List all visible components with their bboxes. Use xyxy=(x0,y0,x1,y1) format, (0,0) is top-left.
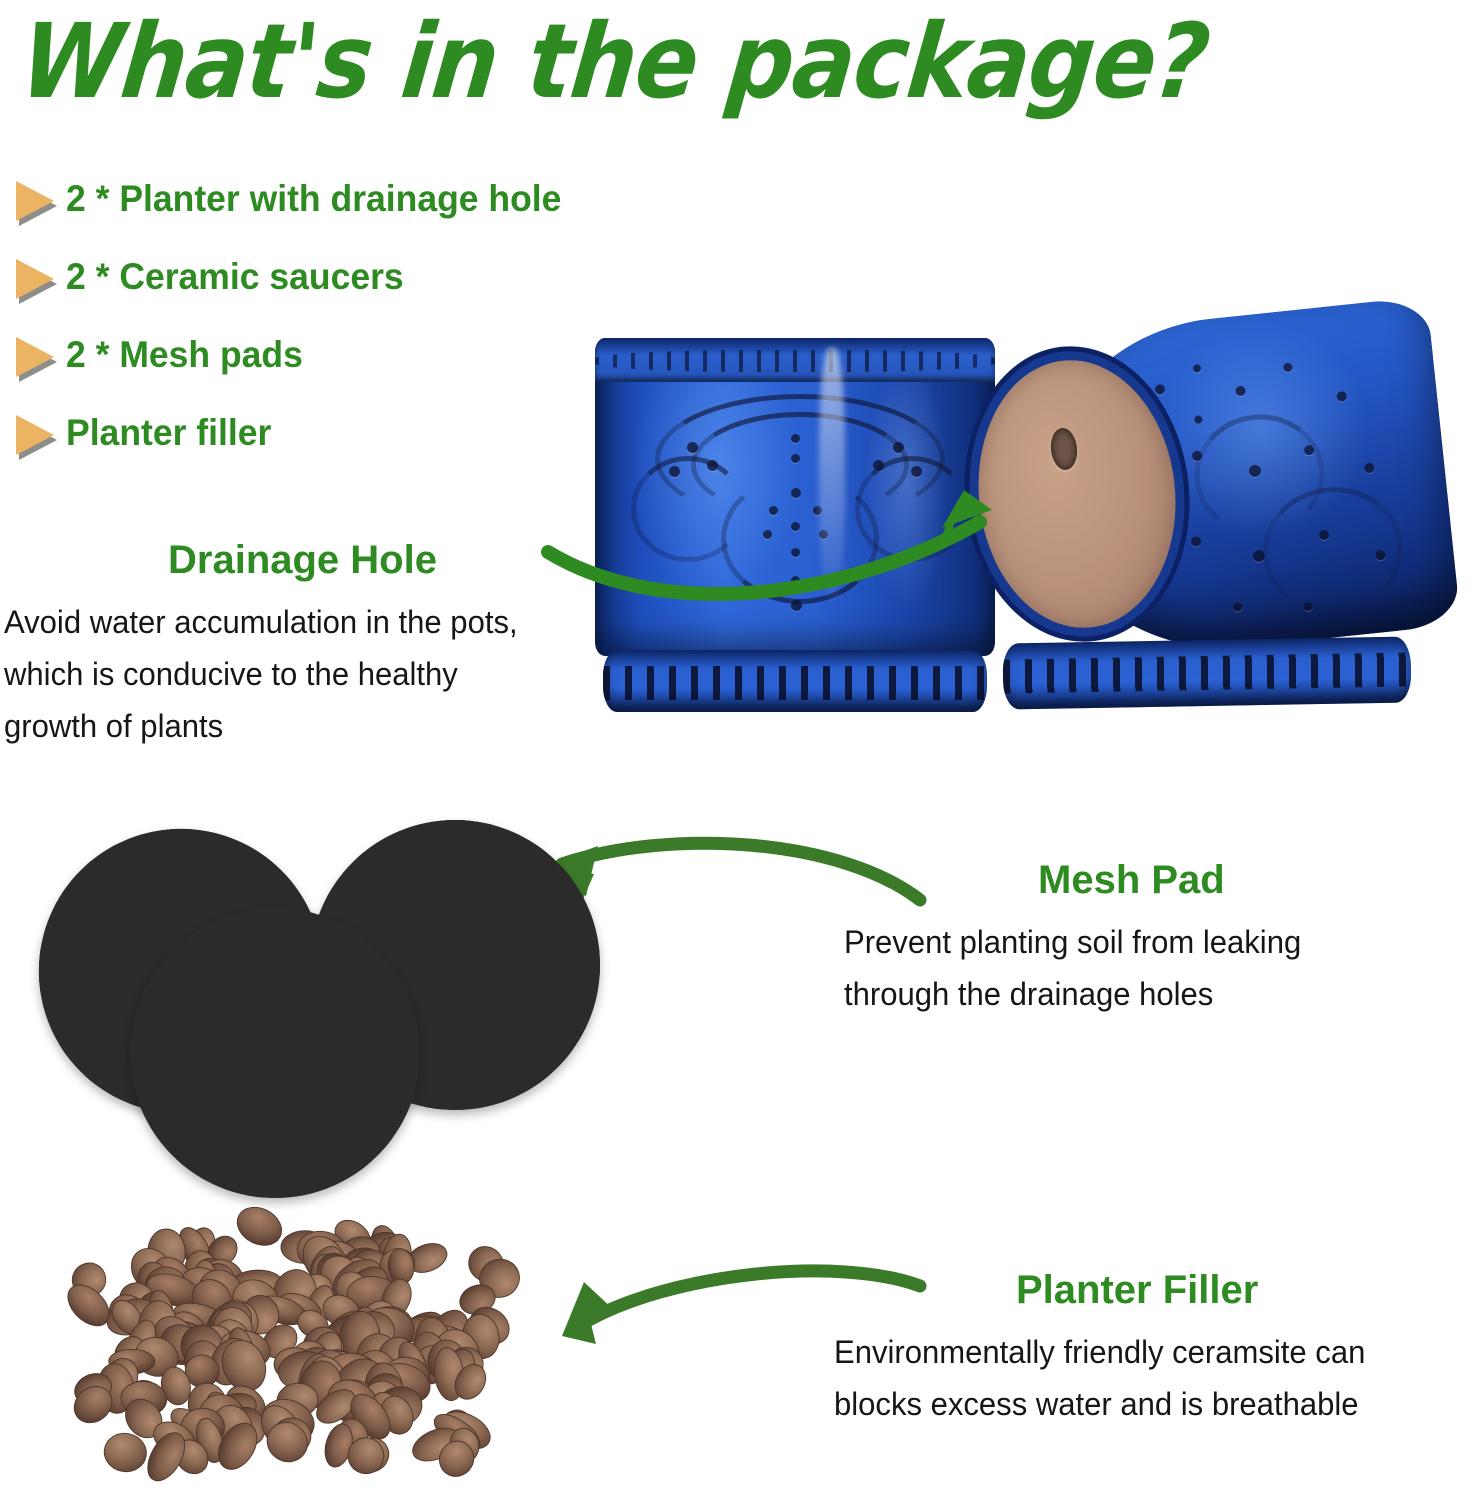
feature-planter-filler: Planter Filler Environmentally friendly … xyxy=(830,1268,1470,1431)
feature-line: Avoid water accumulation in the pots, xyxy=(4,597,582,649)
page-title: What's in the package? xyxy=(15,2,1214,122)
feature-line: through the drainage holes xyxy=(844,969,1442,1021)
list-item-label: 2 * Ceramic saucers xyxy=(66,256,404,298)
clay-pebbles-photo xyxy=(40,1170,560,1490)
feature-heading: Drainage Hole xyxy=(0,538,600,583)
list-item-label: Planter filler xyxy=(66,412,271,454)
list-item-label: 2 * Mesh pads xyxy=(66,334,303,376)
feature-line: which is conducive to the healthy xyxy=(4,649,582,701)
feature-line: Environmentally friendly ceramsite can xyxy=(834,1327,1451,1379)
triangle-right-icon xyxy=(10,411,66,455)
feature-body: Prevent planting soil from leaking throu… xyxy=(840,917,1460,1021)
feature-heading: Mesh Pad xyxy=(840,858,1460,903)
triangle-right-icon xyxy=(10,177,66,221)
curved-arrow-right-icon xyxy=(540,470,1100,650)
planter-saucer xyxy=(603,650,987,712)
list-item-label: 2 * Planter with drainage hole xyxy=(66,178,561,220)
triangle-right-icon xyxy=(10,255,66,299)
infographic-canvas: What's in the package? 2 * Planter with … xyxy=(0,0,1481,1500)
feature-line: blocks excess water and is breathable xyxy=(834,1379,1451,1431)
list-item: 2 * Planter with drainage hole xyxy=(10,160,730,238)
triangle-right-icon xyxy=(10,333,66,377)
black-mesh-pads-photo xyxy=(20,820,540,1120)
mesh-pad-item xyxy=(130,908,420,1198)
feature-body: Environmentally friendly ceramsite can b… xyxy=(830,1327,1470,1431)
feature-body: Avoid water accumulation in the pots, wh… xyxy=(0,597,600,752)
feature-line: growth of plants xyxy=(4,701,582,753)
feature-heading: Planter Filler xyxy=(830,1268,1470,1313)
feature-mesh-pad: Mesh Pad Prevent planting soil from leak… xyxy=(840,858,1460,1021)
feature-drainage-hole: Drainage Hole Avoid water accumulation i… xyxy=(0,538,600,752)
feature-line: Prevent planting soil from leaking xyxy=(844,917,1442,969)
